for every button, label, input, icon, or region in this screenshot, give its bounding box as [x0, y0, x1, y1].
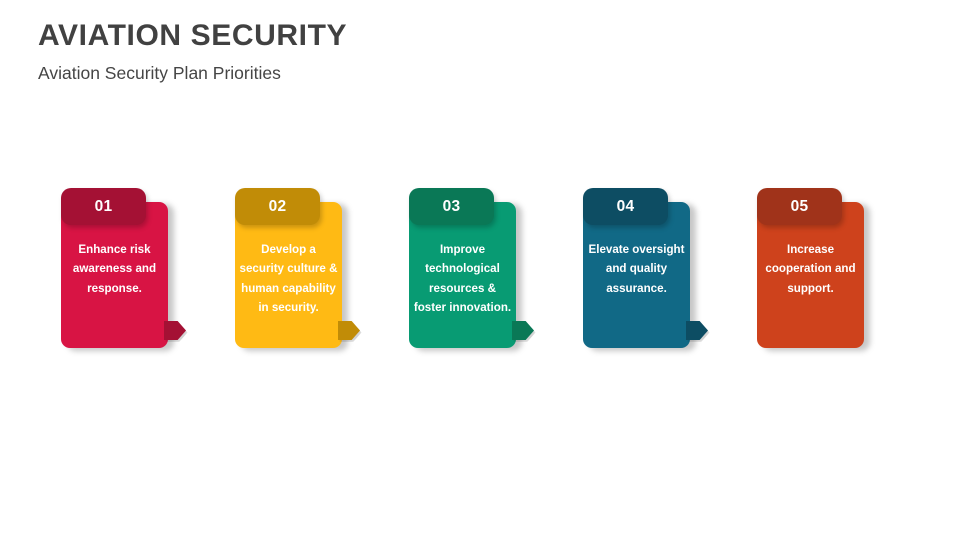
- priority-cards-row: 01Enhance risk awareness and response.02…: [61, 188, 901, 358]
- slide-header: AVIATION SECURITY Aviation Security Plan…: [38, 16, 347, 86]
- card-description: Develop a security culture & human capab…: [237, 240, 340, 318]
- priority-card-05[interactable]: 05Increase cooperation and support.: [757, 188, 870, 353]
- card-description: Elevate oversight and quality assurance.: [585, 240, 688, 298]
- priority-card-03[interactable]: 03Improve technological resources & fost…: [409, 188, 522, 353]
- card-description: Enhance risk awareness and response.: [63, 240, 166, 298]
- priority-card-01[interactable]: 01Enhance risk awareness and response.: [61, 188, 174, 353]
- priority-card-02[interactable]: 02Develop a security culture & human cap…: [235, 188, 348, 353]
- card-number-label: 03: [409, 188, 494, 225]
- card-number-label: 05: [757, 188, 842, 225]
- card-description: Increase cooperation and support.: [759, 240, 862, 298]
- card-connector-arrow-icon: [338, 321, 360, 340]
- card-number-label: 04: [583, 188, 668, 225]
- priority-card-04[interactable]: 04Elevate oversight and quality assuranc…: [583, 188, 696, 353]
- card-description: Improve technological resources & foster…: [411, 240, 514, 318]
- card-connector-arrow-icon: [686, 321, 708, 340]
- card-number-label: 02: [235, 188, 320, 225]
- card-connector-arrow-icon: [512, 321, 534, 340]
- page-subtitle: Aviation Security Plan Priorities: [38, 60, 347, 86]
- slide-canvas: AVIATION SECURITY Aviation Security Plan…: [0, 0, 960, 540]
- card-number-label: 01: [61, 188, 146, 225]
- card-connector-arrow-icon: [164, 321, 186, 340]
- page-title: AVIATION SECURITY: [38, 16, 347, 56]
